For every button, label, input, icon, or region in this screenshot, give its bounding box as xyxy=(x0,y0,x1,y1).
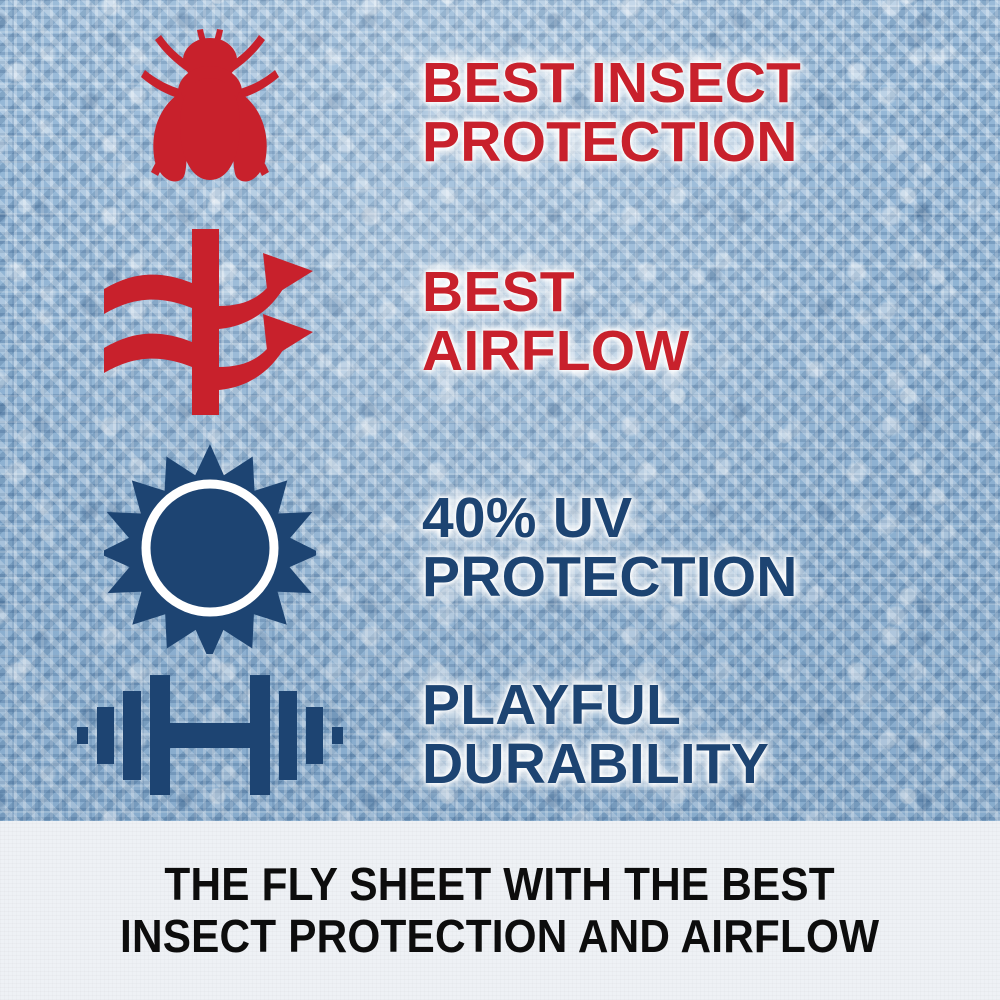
sun-icon xyxy=(104,442,316,654)
dumbbell-icon xyxy=(75,669,345,801)
caption-headline: THE FLY SHEET WITH THE BEST INSECT PROTE… xyxy=(113,859,887,963)
airflow-arrows-icon xyxy=(100,227,320,417)
feature-label-durability: PLAYFUL DURABILITY xyxy=(422,676,1000,793)
feature-list: BEST INSECT PROTECTION xyxy=(0,0,1000,821)
feature-text-cell: 40% UV PROTECTION xyxy=(420,489,1000,606)
feature-icon-cell xyxy=(0,669,420,801)
feature-icon-cell xyxy=(0,20,420,205)
feature-icon-cell xyxy=(0,442,420,654)
product-feature-poster: BEST INSECT PROTECTION xyxy=(0,0,1000,1000)
feature-label-airflow: BEST AIRFLOW xyxy=(422,263,1000,380)
fly-icon xyxy=(125,20,295,205)
feature-row-uv-protection: 40% UV PROTECTION xyxy=(0,442,1000,654)
feature-text-cell: BEST INSECT PROTECTION xyxy=(420,52,1000,171)
feature-row-airflow: BEST AIRFLOW xyxy=(0,224,1000,420)
caption-strip: THE FLY SHEET WITH THE BEST INSECT PROTE… xyxy=(0,821,1000,1000)
feature-label-uv-protection: 40% UV PROTECTION xyxy=(422,489,1000,606)
feature-label-insect-protection: BEST INSECT PROTECTION xyxy=(422,54,1000,171)
feature-row-durability: PLAYFUL DURABILITY xyxy=(0,654,1000,816)
feature-icon-cell xyxy=(0,227,420,417)
feature-row-insect-protection: BEST INSECT PROTECTION xyxy=(0,16,1000,208)
feature-text-cell: BEST AIRFLOW xyxy=(420,263,1000,380)
feature-text-cell: PLAYFUL DURABILITY xyxy=(420,676,1000,793)
